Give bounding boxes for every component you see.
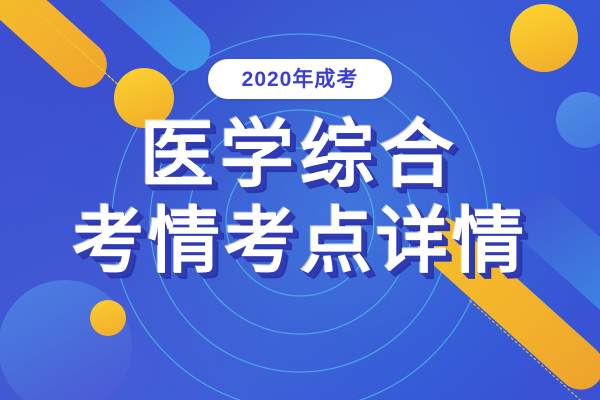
decor-blue-circle-bottom-left bbox=[0, 280, 132, 400]
decor-orange-bar-top-left bbox=[0, 0, 116, 97]
promo-banner: 2020年成考 医学综合 考情考点详情 bbox=[0, 0, 600, 400]
decor-yellow-circle-top-left bbox=[114, 68, 174, 128]
decor-yellow-circle-top-right bbox=[510, 4, 578, 72]
year-badge-label: 2020年成考 bbox=[242, 69, 359, 90]
headline-line-2: 考情考点详情 bbox=[0, 206, 600, 278]
headline-line-1: 医学综合 bbox=[0, 118, 600, 192]
headline-block: 医学综合 考情考点详情 bbox=[0, 118, 600, 278]
decor-yellow-circle-bottom-left bbox=[90, 300, 126, 336]
year-badge: 2020年成考 bbox=[208, 59, 392, 99]
decor-blue-circle-top-right bbox=[556, 92, 600, 148]
